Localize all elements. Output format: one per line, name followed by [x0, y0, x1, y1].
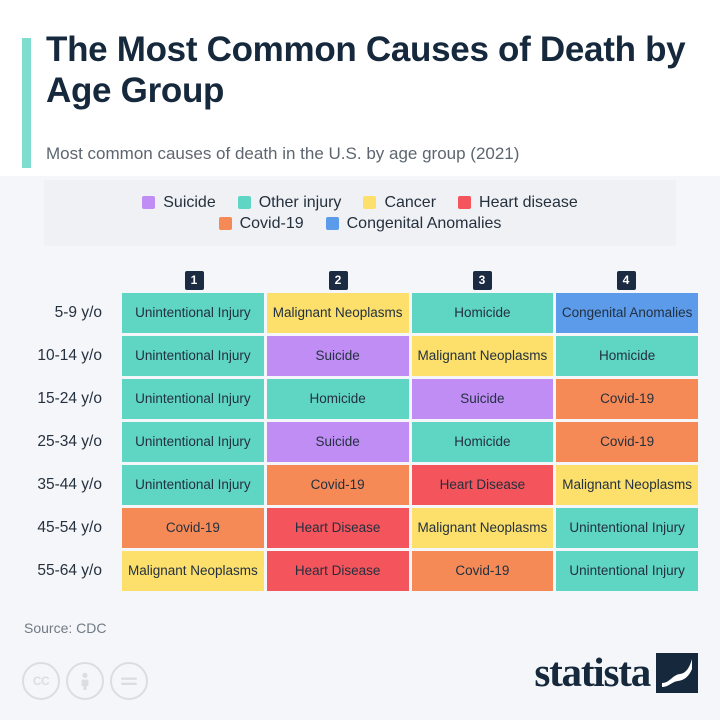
legend-row-2: Covid-19 Congenital Anomalies: [208, 215, 513, 233]
table-cell: Homicide: [412, 293, 554, 333]
table-cell: Unintentional Injury: [122, 336, 264, 376]
cc-nd-equals-icon: [110, 662, 148, 700]
legend-item-cancer: Cancer: [363, 194, 436, 212]
table-cell: Malignant Neoplasms: [267, 293, 409, 333]
table-cell: Heart Disease: [267, 508, 409, 548]
table-row: Unintentional InjuryHomicideSuicideCovid…: [122, 379, 698, 419]
source-label: Source: CDC: [24, 620, 106, 636]
legend-label: Cancer: [384, 194, 436, 212]
row-header-55-64: 55-64 y/o: [0, 551, 112, 591]
table-cell: Covid-19: [556, 379, 698, 419]
legend-item-covid-19: Covid-19: [219, 215, 304, 233]
table-cell: Unintentional Injury: [122, 379, 264, 419]
rank-badge: 2: [329, 271, 348, 290]
table-row: Unintentional InjuryCovid-19Heart Diseas…: [122, 465, 698, 505]
legend-label: Other injury: [259, 194, 342, 212]
causes-table: Unintentional InjuryMalignant NeoplasmsH…: [122, 293, 698, 591]
statista-logo: statista: [534, 652, 698, 693]
table-cell: Congenital Anomalies: [556, 293, 698, 333]
row-header-15-24: 15-24 y/o: [0, 379, 112, 419]
table-cell: Heart Disease: [412, 465, 554, 505]
statista-wordmark: statista: [534, 652, 650, 693]
legend-label: Suicide: [163, 194, 215, 212]
table-cell: Suicide: [267, 422, 409, 462]
legend-swatch-icon: [458, 196, 471, 209]
table-cell: Homicide: [267, 379, 409, 419]
table-row: Malignant NeoplasmsHeart DiseaseCovid-19…: [122, 551, 698, 591]
row-header-5-9: 5-9 y/o: [0, 293, 112, 333]
table-cell: Covid-19: [267, 465, 409, 505]
cc-icon: CC: [22, 662, 60, 700]
table-cell: Unintentional Injury: [556, 551, 698, 591]
table-row: Unintentional InjurySuicideHomicideCovid…: [122, 422, 698, 462]
title-accent-bar: [22, 38, 31, 168]
column-header-2: 2: [266, 270, 410, 290]
table-cell: Unintentional Injury: [556, 508, 698, 548]
header: The Most Common Causes of Death by Age G…: [0, 0, 720, 176]
table-cell: Unintentional Injury: [122, 465, 264, 505]
page-subtitle: Most common causes of death in the U.S. …: [46, 144, 706, 164]
column-headers: 1 2 3 4: [122, 270, 698, 290]
row-headers: 5-9 y/o 10-14 y/o 15-24 y/o 25-34 y/o 35…: [0, 293, 112, 591]
table-cell: Malignant Neoplasms: [412, 336, 554, 376]
legend-label: Congenital Anomalies: [347, 215, 502, 233]
legend-swatch-icon: [238, 196, 251, 209]
table-cell: Covid-19: [412, 551, 554, 591]
table-cell: Covid-19: [556, 422, 698, 462]
table-cell: Suicide: [412, 379, 554, 419]
legend-swatch-icon: [326, 217, 339, 230]
table-cell: Unintentional Injury: [122, 293, 264, 333]
table-cell: Malignant Neoplasms: [122, 551, 264, 591]
table-row: Covid-19Heart DiseaseMalignant Neoplasms…: [122, 508, 698, 548]
table-cell: Homicide: [412, 422, 554, 462]
row-header-25-34: 25-34 y/o: [0, 422, 112, 462]
column-header-4: 4: [554, 270, 698, 290]
row-header-10-14: 10-14 y/o: [0, 336, 112, 376]
legend-swatch-icon: [142, 196, 155, 209]
table-row: Unintentional InjuryMalignant NeoplasmsH…: [122, 293, 698, 333]
table-cell: Covid-19: [122, 508, 264, 548]
legend-row-1: Suicide Other injury Cancer Heart diseas…: [131, 194, 588, 212]
column-header-3: 3: [410, 270, 554, 290]
table-cell: Heart Disease: [267, 551, 409, 591]
column-header-1: 1: [122, 270, 266, 290]
cc-by-person-icon: [66, 662, 104, 700]
rank-badge: 4: [617, 271, 636, 290]
legend-swatch-icon: [219, 217, 232, 230]
legend-item-congenital-anomalies: Congenital Anomalies: [326, 215, 502, 233]
rank-badge: 3: [473, 271, 492, 290]
legend-label: Heart disease: [479, 194, 578, 212]
legend-item-heart-disease: Heart disease: [458, 194, 578, 212]
page-title: The Most Common Causes of Death by Age G…: [46, 30, 686, 111]
table-cell: Homicide: [556, 336, 698, 376]
row-header-45-54: 45-54 y/o: [0, 508, 112, 548]
legend-label: Covid-19: [240, 215, 304, 233]
table-cell: Malignant Neoplasms: [412, 508, 554, 548]
table-cell: Suicide: [267, 336, 409, 376]
rank-badge: 1: [185, 271, 204, 290]
creative-commons-icons: CC: [22, 662, 148, 700]
legend-swatch-icon: [363, 196, 376, 209]
statista-mark-icon: [656, 653, 698, 693]
row-header-35-44: 35-44 y/o: [0, 465, 112, 505]
legend-item-suicide: Suicide: [142, 194, 215, 212]
table-row: Unintentional InjurySuicideMalignant Neo…: [122, 336, 698, 376]
legend: Suicide Other injury Cancer Heart diseas…: [44, 180, 676, 246]
legend-item-other-injury: Other injury: [238, 194, 342, 212]
table-cell: Unintentional Injury: [122, 422, 264, 462]
table-cell: Malignant Neoplasms: [556, 465, 698, 505]
infographic-page: The Most Common Causes of Death by Age G…: [0, 0, 720, 720]
